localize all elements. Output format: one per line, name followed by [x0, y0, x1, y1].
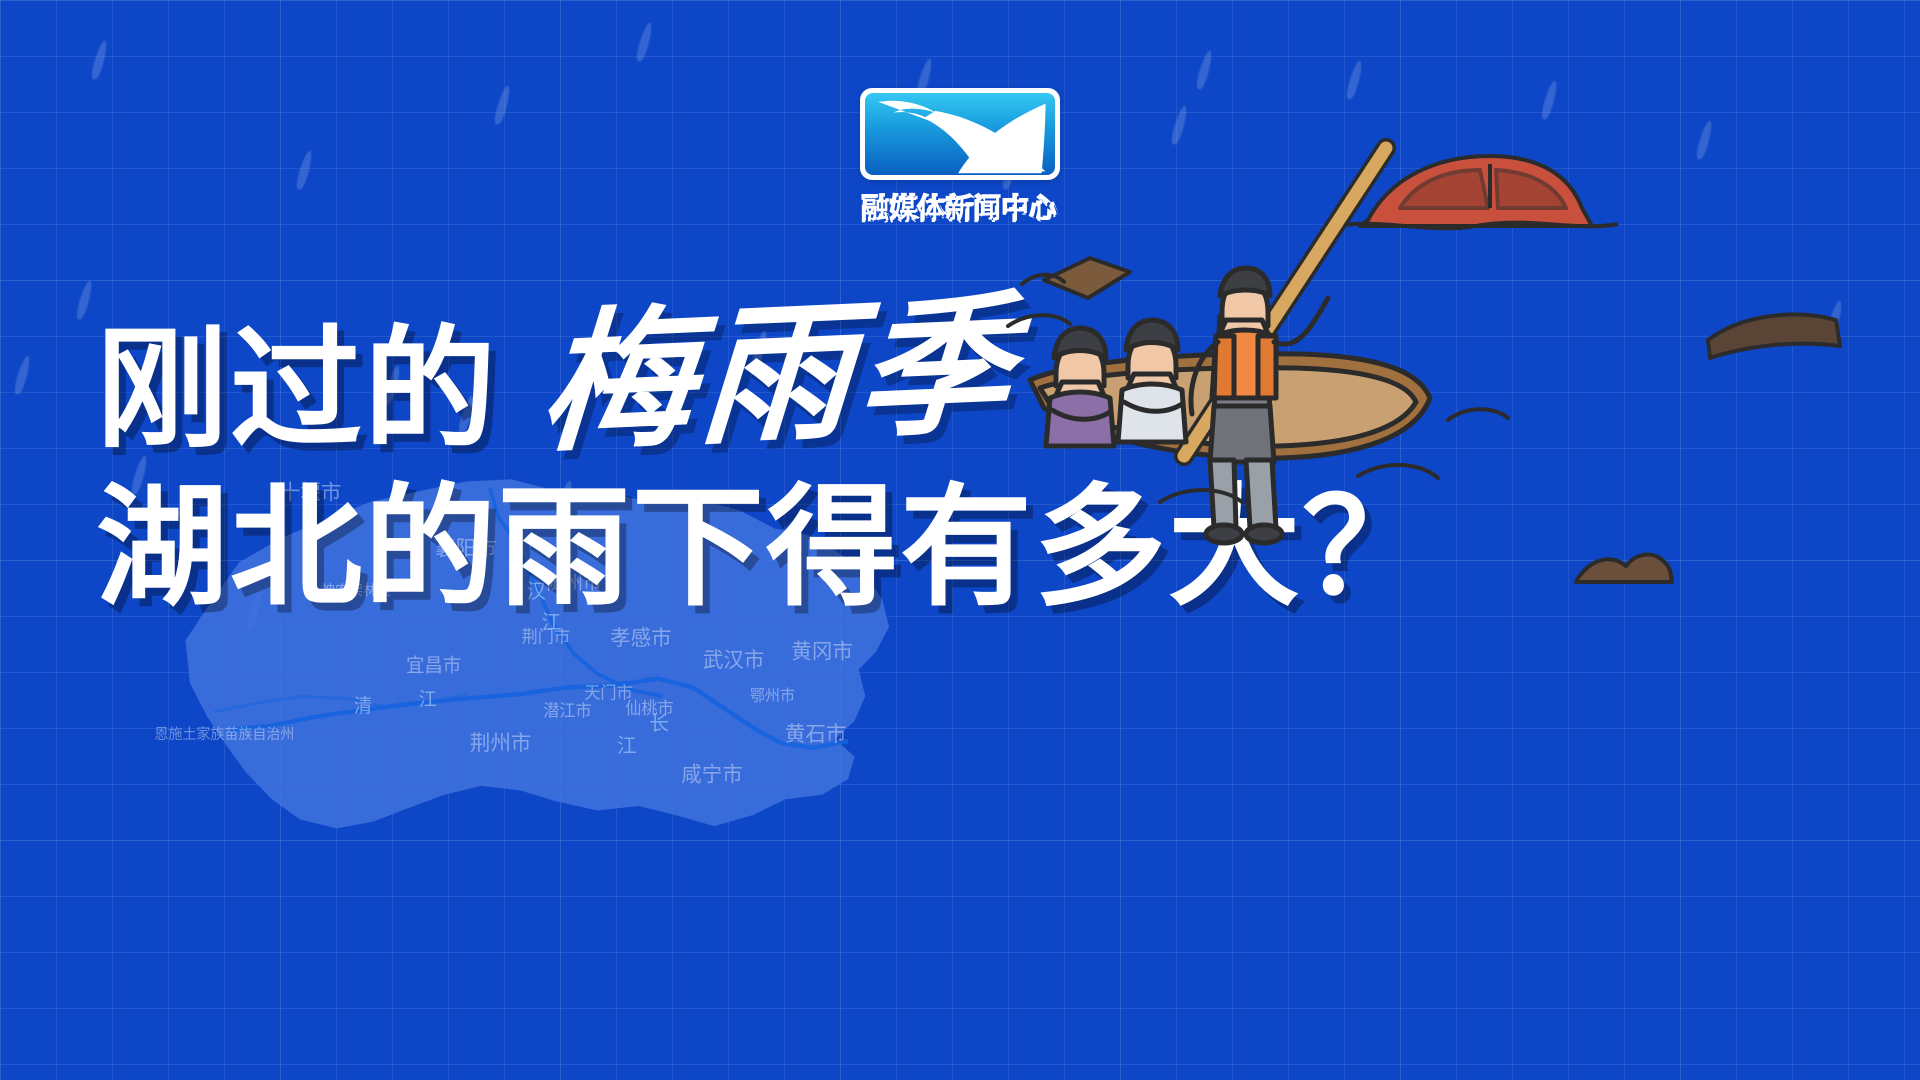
- rain-drop: [295, 150, 315, 191]
- submerged-roof-right: [1708, 314, 1840, 358]
- poster-canvas: 十堰市 襄阳市 随州市 神农架林区 孝感市 武汉市 黄冈市 宜昌市 荆门市 天门…: [0, 0, 1920, 1080]
- headline-line-2: 湖北的雨下得有多大？: [96, 482, 1376, 614]
- headline-prefix: 刚过的: [96, 324, 498, 456]
- svg-text:潜江市: 潜江市: [543, 701, 592, 720]
- svg-text:孝感市: 孝感市: [610, 626, 671, 650]
- rain-drop: [90, 40, 110, 81]
- svg-text:鄂州市: 鄂州市: [750, 687, 795, 705]
- rain-drop: [13, 355, 33, 396]
- svg-text:江: 江: [617, 734, 636, 757]
- submerged-red-car: [1360, 156, 1592, 226]
- svg-text:武汉市: 武汉市: [703, 648, 764, 672]
- svg-text:清: 清: [354, 696, 372, 717]
- logo-caption: 融媒体新闻中心: [853, 187, 1067, 226]
- logo-wave-mark: [865, 93, 1055, 175]
- rain-drop: [1170, 105, 1190, 146]
- svg-text:江: 江: [419, 689, 437, 710]
- svg-text:黄石市: 黄石市: [785, 722, 846, 746]
- rain-drop: [1540, 80, 1560, 121]
- rain-drop: [635, 22, 655, 63]
- flood-rescue-illustration: [1240, 130, 1920, 750]
- rain-drop: [493, 85, 513, 126]
- mud-mound: [1576, 554, 1672, 582]
- logo-badge: [860, 88, 1060, 180]
- headline-script: 梅雨季: [536, 288, 1021, 461]
- svg-text:恩施土家族苗族自治州: 恩施土家族苗族自治州: [154, 726, 294, 743]
- rain-drop: [75, 280, 95, 321]
- seated-child-right: [1118, 320, 1186, 442]
- svg-text:荆州市: 荆州市: [470, 731, 531, 755]
- rain-drop: [1195, 50, 1215, 91]
- svg-text:黄冈市: 黄冈市: [791, 639, 852, 663]
- svg-text:长: 长: [649, 712, 669, 735]
- seated-child-left: [1046, 328, 1114, 446]
- rain-drop: [1345, 60, 1365, 101]
- svg-text:咸宁市: 咸宁市: [681, 762, 742, 786]
- channel-logo: 融媒体新闻中心: [853, 88, 1067, 226]
- svg-text:宜昌市: 宜昌市: [406, 655, 461, 676]
